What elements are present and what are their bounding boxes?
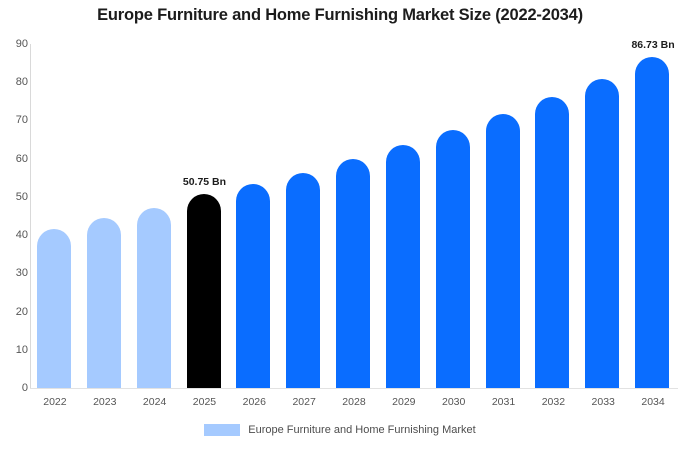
- bar-slot: [80, 44, 130, 388]
- bar-2032[interactable]: [535, 97, 569, 388]
- x-axis-tick-label-2029: 2029: [379, 396, 429, 408]
- x-axis-tick-label-2033: 2033: [578, 396, 628, 408]
- y-axis-tick-label: 50: [0, 191, 28, 203]
- bar-slot: [229, 44, 279, 388]
- x-axis-tick-label-2022: 2022: [30, 396, 80, 408]
- y-axis-tick-label: 40: [0, 229, 28, 241]
- x-axis-tick-label-2032: 2032: [528, 396, 578, 408]
- bar-2027[interactable]: [286, 173, 320, 388]
- bar-value-label-2025: 50.75 Bn: [183, 176, 226, 188]
- x-axis-tick-label-2025: 2025: [180, 396, 230, 408]
- bar-2028[interactable]: [336, 159, 370, 388]
- bar-2024[interactable]: [137, 208, 171, 388]
- bar-2025[interactable]: [187, 194, 221, 388]
- bar-chart: Europe Furniture and Home Furnishing Mar…: [0, 0, 680, 450]
- x-axis-tick-label-2031: 2031: [479, 396, 529, 408]
- chart-legend: Europe Furniture and Home Furnishing Mar…: [0, 424, 680, 436]
- x-axis-tick-label-2030: 2030: [429, 396, 479, 408]
- x-axis-line: [30, 388, 678, 389]
- bar-2033[interactable]: [585, 79, 619, 388]
- bar-slot: [578, 44, 628, 388]
- x-axis-tick-label-2023: 2023: [80, 396, 130, 408]
- bar-2022[interactable]: [37, 229, 71, 388]
- x-axis-tick-label-2024: 2024: [130, 396, 180, 408]
- chart-title: Europe Furniture and Home Furnishing Mar…: [0, 6, 680, 25]
- legend-swatch-icon: [204, 424, 240, 436]
- x-axis-tick-label-2027: 2027: [279, 396, 329, 408]
- bar-2029[interactable]: [386, 145, 420, 388]
- bars-layer: 50.75 Bn86.73 Bn: [30, 44, 678, 388]
- bar-slot: 50.75 Bn: [180, 44, 230, 388]
- bar-2031[interactable]: [486, 114, 520, 388]
- bar-slot: [130, 44, 180, 388]
- bar-2026[interactable]: [236, 184, 270, 388]
- y-axis-tick-label: 90: [0, 38, 28, 50]
- y-axis-tick-label: 20: [0, 306, 28, 318]
- bar-slot: [528, 44, 578, 388]
- y-axis-tick-label: 60: [0, 153, 28, 165]
- bar-2023[interactable]: [87, 218, 121, 388]
- bar-2034[interactable]: [635, 57, 669, 389]
- bar-slot: [30, 44, 80, 388]
- bar-slot: [279, 44, 329, 388]
- y-axis-tick-label: 0: [0, 382, 28, 394]
- y-axis-tick-label: 80: [0, 76, 28, 88]
- bar-slot: [429, 44, 479, 388]
- x-axis-tick-label-2026: 2026: [229, 396, 279, 408]
- bar-slot: [479, 44, 529, 388]
- y-axis-tick-label: 70: [0, 114, 28, 126]
- bar-slot: 86.73 Bn: [628, 44, 678, 388]
- bar-slot: [329, 44, 379, 388]
- bar-slot: [379, 44, 429, 388]
- y-axis-tick-label: 30: [0, 267, 28, 279]
- legend-item-label: Europe Furniture and Home Furnishing Mar…: [248, 424, 475, 436]
- x-axis-tick-label-2034: 2034: [628, 396, 678, 408]
- y-axis-tick-label: 10: [0, 344, 28, 356]
- bar-2030[interactable]: [436, 130, 470, 388]
- plot-area: 50.75 Bn86.73 Bn: [30, 44, 678, 388]
- x-axis-tick-label-2028: 2028: [329, 396, 379, 408]
- bar-value-label-2034: 86.73 Bn: [631, 39, 674, 51]
